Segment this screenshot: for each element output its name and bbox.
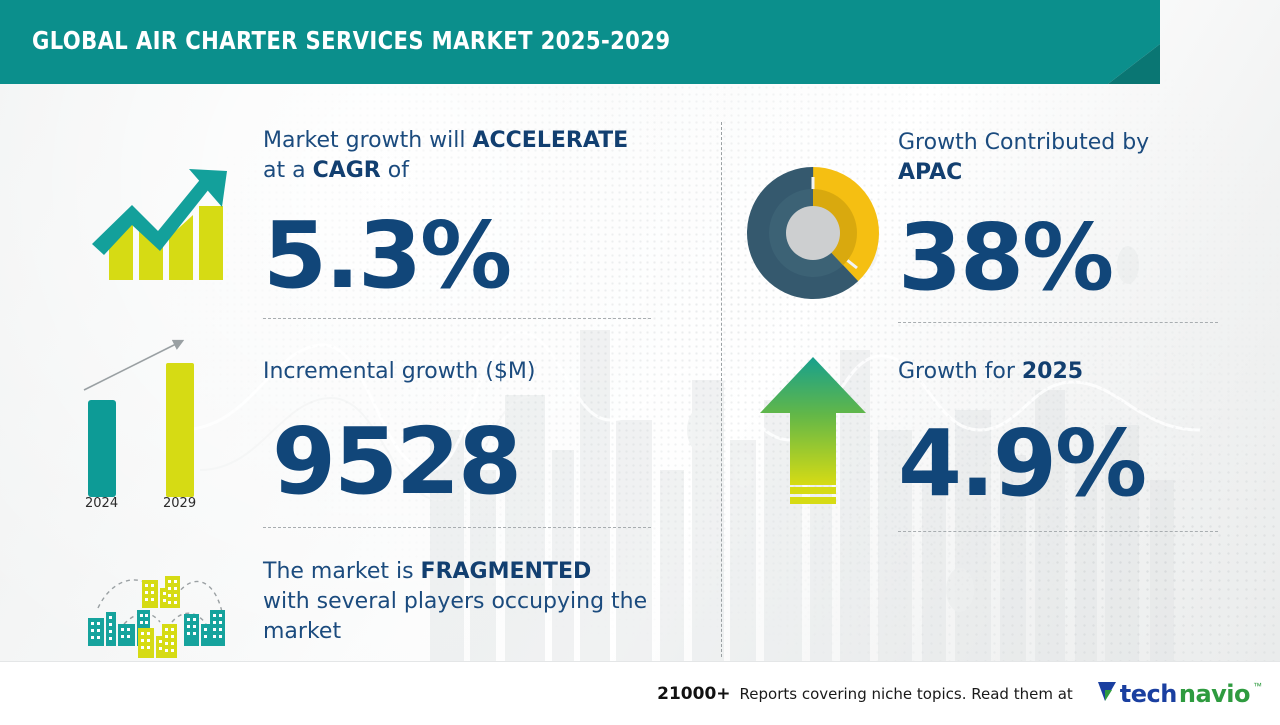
cagr-line2-prefix: at a — [263, 158, 313, 183]
cagr-text-block: Market growth will ACCELERATE at a CAGR … — [263, 126, 663, 186]
city-buildings-network-icon — [80, 566, 232, 662]
cagr-line1-prefix: Market growth will — [263, 128, 472, 153]
technavio-logo-trademark: ™ — [1253, 681, 1262, 691]
fragmentation-line1-bold: FRAGMENTED — [421, 559, 592, 584]
left-divider-2 — [263, 527, 651, 528]
right-divider-1 — [898, 322, 1218, 323]
growth2025-text-block: Growth for 2025 — [898, 357, 1083, 387]
infographic-page: GLOBAL AIR CHARTER SERVICES MARKET 2025-… — [0, 0, 1280, 720]
apac-text-block: Growth Contributed by APAC — [898, 128, 1228, 188]
cagr-line1-bold: ACCELERATE — [472, 128, 628, 153]
right-divider-2 — [898, 531, 1218, 532]
fragmentation-line1-prefix: The market is — [263, 559, 421, 584]
fragmentation-text-block: The market is FRAGMENTED with several pl… — [263, 557, 683, 647]
apac-line1: Growth Contributed by — [898, 130, 1149, 155]
column-divider — [721, 122, 722, 657]
apac-line1-bold: APAC — [898, 160, 962, 185]
cagr-line2-suffix: of — [381, 158, 409, 183]
technavio-logo-tech: tech — [1120, 680, 1177, 708]
cagr-value: 5.3% — [263, 210, 510, 302]
footer-tagline: Reports covering niche topics. Read them… — [740, 685, 1073, 703]
footer-report-count: 21000+ — [657, 684, 730, 704]
two-bar-comparison-icon — [70, 330, 230, 520]
technavio-logo-mark — [1096, 679, 1118, 708]
incremental-growth-label: Incremental growth ($M) — [263, 357, 535, 387]
donut-chart-icon — [740, 160, 886, 306]
bar-label-2029: 2029 — [163, 496, 196, 511]
left-divider-1 — [263, 318, 651, 319]
growth2025-value: 4.9% — [898, 418, 1145, 510]
apac-value: 38% — [898, 212, 1112, 304]
page-title: GLOBAL AIR CHARTER SERVICES MARKET 2025-… — [32, 26, 670, 55]
technavio-logo-navio: navio — [1179, 680, 1250, 708]
incremental-growth-value: 9528 — [272, 416, 520, 508]
footer-bar: 21000+ Reports covering niche topics. Re… — [0, 661, 1280, 720]
fragmentation-line3: market — [263, 619, 341, 644]
growth2025-line1-bold: 2025 — [1022, 359, 1083, 384]
cagr-headline: Market growth will ACCELERATE at a CAGR … — [263, 126, 663, 186]
technavio-logo[interactable]: technavio™ — [1096, 679, 1262, 708]
footer-content: 21000+ Reports covering niche topics. Re… — [657, 679, 1262, 708]
growth2025-line1-prefix: Growth for — [898, 359, 1022, 384]
bar-label-2024: 2024 — [85, 496, 118, 511]
cagr-line2-bold: CAGR — [313, 158, 381, 183]
fragmentation-line2: with several players occupying the — [263, 589, 647, 614]
growth-bar-chart-icon — [70, 145, 230, 295]
up-arrow-gradient-icon — [756, 355, 871, 515]
header-banner: GLOBAL AIR CHARTER SERVICES MARKET 2025-… — [0, 0, 1160, 84]
